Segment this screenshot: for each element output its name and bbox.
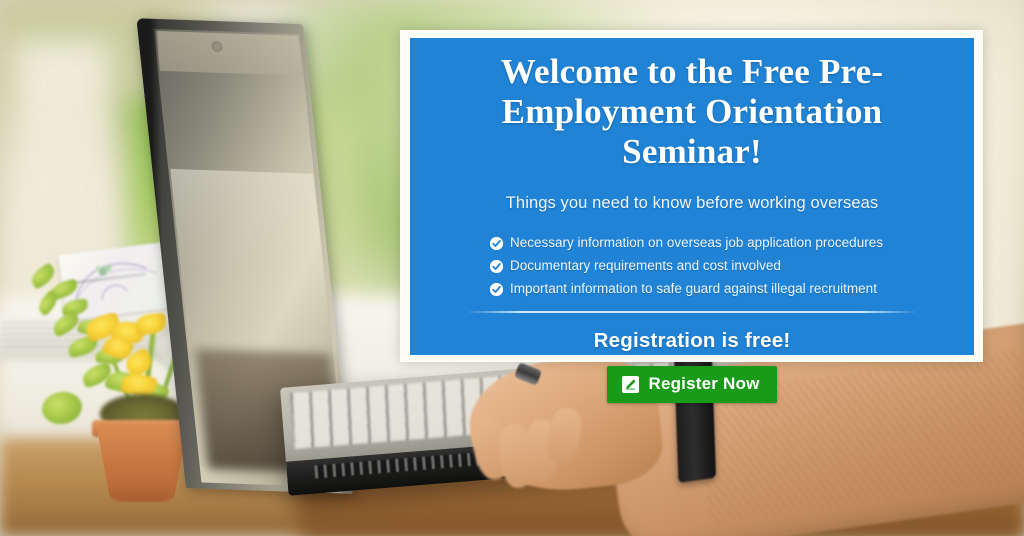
list-item: Necessary information on overseas job ap…: [490, 233, 956, 253]
check-circle-icon: [490, 237, 503, 250]
screenshot-canvas: Welcome to the Free Pre-Employment Orien…: [0, 0, 1024, 536]
promo-panel: Welcome to the Free Pre-Employment Orien…: [410, 38, 974, 355]
pencil-square-icon: [622, 376, 639, 393]
register-now-label: Register Now: [648, 374, 759, 394]
promo-title: Welcome to the Free Pre-Employment Orien…: [428, 52, 956, 172]
register-now-button[interactable]: Register Now: [607, 366, 776, 403]
list-item-label: Important information to safe guard agai…: [510, 279, 877, 299]
check-circle-icon: [490, 283, 503, 296]
flower-pot: [96, 424, 188, 502]
promo-panel-border: Welcome to the Free Pre-Employment Orien…: [400, 30, 983, 362]
registration-note: Registration is free!: [428, 329, 956, 353]
list-item-label: Documentary requirements and cost involv…: [510, 256, 781, 276]
list-item: Important information to safe guard agai…: [490, 279, 956, 299]
list-item-label: Necessary information on overseas job ap…: [510, 233, 883, 253]
promo-benefits-list: Necessary information on overseas job ap…: [428, 233, 956, 299]
promo-subtitle: Things you need to know before working o…: [428, 194, 956, 213]
list-item: Documentary requirements and cost involv…: [490, 256, 956, 276]
section-divider: [469, 311, 915, 313]
check-circle-icon: [490, 260, 503, 273]
